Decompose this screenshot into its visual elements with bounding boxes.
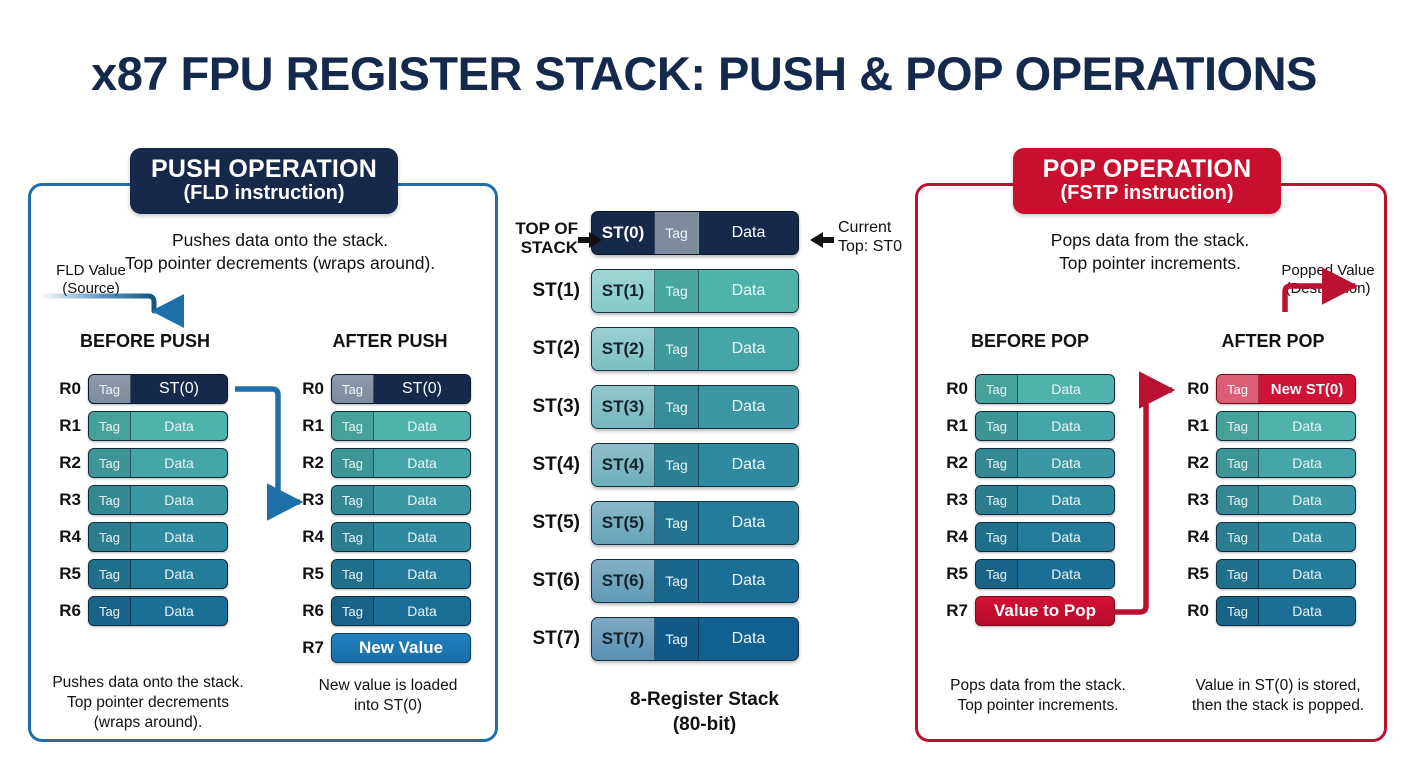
register-data-cell: ST(0): [374, 375, 470, 403]
pop-foot-left-line2: Top pointer increments.: [928, 696, 1148, 716]
register-data-cell: Data: [1259, 412, 1355, 440]
register-cell-box[interactable]: TagData: [331, 448, 471, 478]
register-row[interactable]: R2TagData: [938, 449, 1113, 477]
register-cell-box[interactable]: TagNew ST(0): [1216, 374, 1356, 404]
register-data-cell: Data: [131, 412, 227, 440]
popped-value-label-line1: Popped Value: [1258, 262, 1398, 280]
stack-row[interactable]: ST(4)ST(4)TagData: [497, 444, 912, 486]
register-label: R3: [1179, 490, 1209, 510]
stack-row-box[interactable]: ST(5)TagData: [591, 501, 799, 545]
register-tag-cell: Tag: [89, 597, 131, 625]
register-highlight-cell: New Value: [332, 638, 470, 658]
fld-value-label-line2: (Source): [36, 280, 146, 298]
register-cell-box[interactable]: TagData: [88, 596, 228, 626]
register-row[interactable]: R1TagData: [51, 412, 226, 440]
register-data-cell: Data: [1018, 486, 1114, 514]
stack-row-box[interactable]: ST(0)TagData: [591, 211, 799, 255]
register-label: R1: [294, 416, 324, 436]
register-data-cell: Data: [1259, 597, 1355, 625]
register-row[interactable]: R3TagData: [51, 486, 226, 514]
register-cell-box[interactable]: TagData: [1216, 559, 1356, 589]
stack-register-name-cell: ST(4): [592, 444, 655, 486]
register-label: R1: [51, 416, 81, 436]
register-label: R0: [938, 379, 968, 399]
after-pop-register-column: R0TagNew ST(0)R1TagDataR2TagDataR3TagDat…: [1179, 375, 1354, 634]
register-cell-box[interactable]: TagData: [975, 522, 1115, 552]
stack-row-box[interactable]: ST(6)TagData: [591, 559, 799, 603]
register-row[interactable]: R1TagData: [294, 412, 469, 440]
stack-tag-cell: Tag: [655, 212, 699, 254]
register-cell-box[interactable]: TagData: [331, 559, 471, 589]
register-cell-box[interactable]: TagData: [1216, 485, 1356, 515]
register-data-cell: Data: [131, 597, 227, 625]
pop-foot-right-line1: Value in ST(0) is stored,: [1168, 676, 1388, 696]
register-tag-cell: Tag: [89, 486, 131, 514]
register-tag-cell: Tag: [89, 375, 131, 403]
pop-badge-subtitle: (FSTP instruction): [1013, 183, 1281, 204]
stack-row[interactable]: ST(5)ST(5)TagData: [497, 502, 912, 544]
center-caption-line1: 8-Register Stack: [497, 688, 912, 713]
stack-row[interactable]: ST(6)ST(6)TagData: [497, 560, 912, 602]
stack-register-name-cell: ST(1): [592, 270, 655, 312]
pop-foot-right-line2: then the stack is popped.: [1168, 696, 1388, 716]
before-push-register-column: R0TagST(0)R1TagDataR2TagDataR3TagDataR4T…: [51, 375, 226, 634]
register-tag-cell: Tag: [1217, 523, 1259, 551]
register-label: R5: [294, 564, 324, 584]
register-row[interactable]: R0TagNew ST(0): [1179, 375, 1354, 403]
register-row[interactable]: R5TagData: [51, 560, 226, 588]
before-push-heading: BEFORE PUSH: [60, 331, 230, 352]
register-row[interactable]: R5TagData: [294, 560, 469, 588]
register-tag-cell: Tag: [89, 560, 131, 588]
register-row[interactable]: R7Value to Pop: [938, 597, 1113, 625]
push-foot-right-line2: into ST(0): [288, 696, 488, 716]
register-row[interactable]: R1TagData: [1179, 412, 1354, 440]
stack-row[interactable]: ST(3)ST(3)TagData: [497, 386, 912, 428]
stack-data-cell: Data: [699, 618, 798, 660]
stack-data-cell: Data: [699, 328, 798, 370]
register-cell-box[interactable]: TagData: [1216, 522, 1356, 552]
register-label: R4: [294, 527, 324, 547]
register-tag-cell: Tag: [976, 412, 1018, 440]
register-label: R1: [938, 416, 968, 436]
register-data-cell: Data: [1259, 523, 1355, 551]
page-title: x87 FPU REGISTER STACK: PUSH & POP OPERA…: [0, 46, 1408, 101]
register-row[interactable]: R2TagData: [51, 449, 226, 477]
stack-row[interactable]: ST(7)ST(7)TagData: [497, 618, 912, 660]
register-tag-cell: Tag: [332, 375, 374, 403]
register-cell-box[interactable]: TagData: [331, 411, 471, 441]
register-row[interactable]: R0TagData: [1179, 597, 1354, 625]
pop-foot-left-line1: Pops data from the stack.: [928, 676, 1148, 696]
register-data-cell: Data: [131, 449, 227, 477]
push-panel-badge: PUSH OPERATION (FLD instruction): [130, 148, 398, 214]
register-data-cell: Data: [131, 523, 227, 551]
register-cell-box[interactable]: TagST(0): [88, 374, 228, 404]
register-label: R7: [938, 601, 968, 621]
register-highlight-cell: Value to Pop: [976, 601, 1114, 621]
register-cell-box[interactable]: TagData: [331, 485, 471, 515]
register-data-cell: Data: [1259, 449, 1355, 477]
register-cell-box[interactable]: TagData: [975, 485, 1115, 515]
push-badge-subtitle: (FLD instruction): [130, 183, 398, 204]
register-label: R5: [51, 564, 81, 584]
fld-value-label-line1: FLD Value: [36, 262, 146, 280]
register-row[interactable]: R4TagData: [1179, 523, 1354, 551]
register-cell-box[interactable]: TagData: [88, 411, 228, 441]
stack-row-box[interactable]: ST(3)TagData: [591, 385, 799, 429]
register-label: R2: [1179, 453, 1209, 473]
register-row[interactable]: R4TagData: [51, 523, 226, 551]
register-cell-box[interactable]: TagData: [88, 485, 228, 515]
register-cell-box[interactable]: TagData: [88, 522, 228, 552]
register-tag-cell: Tag: [89, 412, 131, 440]
register-row[interactable]: R3TagData: [1179, 486, 1354, 514]
fld-value-source-label: FLD Value (Source): [36, 262, 146, 298]
stack-tag-cell: Tag: [655, 386, 699, 428]
register-data-cell: Data: [131, 560, 227, 588]
stack-row-box[interactable]: ST(7)TagData: [591, 617, 799, 661]
register-label: R2: [938, 453, 968, 473]
register-row[interactable]: R2TagData: [294, 449, 469, 477]
register-data-cell: Data: [374, 412, 470, 440]
register-label: R2: [294, 453, 324, 473]
after-pop-heading: AFTER POP: [1188, 331, 1358, 352]
pop-foot-right: Value in ST(0) is stored, then the stack…: [1168, 676, 1388, 716]
register-data-cell: Data: [374, 523, 470, 551]
register-row[interactable]: R6TagData: [51, 597, 226, 625]
pop-foot-left: Pops data from the stack. Top pointer in…: [928, 676, 1148, 716]
register-label: R4: [938, 527, 968, 547]
pop-description-line1: Pops data from the stack.: [960, 229, 1340, 252]
register-row[interactable]: R3TagData: [938, 486, 1113, 514]
stack-register-name-cell: ST(2): [592, 328, 655, 370]
stack-register-name-cell: ST(6): [592, 560, 655, 602]
after-push-register-column: R0TagST(0)R1TagDataR2TagDataR3TagDataR4T…: [294, 375, 469, 671]
register-cell-box[interactable]: TagData: [331, 522, 471, 552]
register-tag-cell: Tag: [976, 449, 1018, 477]
register-data-cell: Data: [374, 597, 470, 625]
register-tag-cell: Tag: [332, 412, 374, 440]
register-label: R0: [1179, 601, 1209, 621]
register-data-cell: Data: [1259, 560, 1355, 588]
register-label: R2: [51, 453, 81, 473]
stack-row-label: ST(5): [497, 513, 580, 533]
before-pop-heading: BEFORE POP: [945, 331, 1115, 352]
popped-value-destination-label: Popped Value (Destination): [1258, 262, 1398, 298]
register-cell-box[interactable]: TagData: [1216, 596, 1356, 626]
stack-register-name-cell: ST(7): [592, 618, 655, 660]
register-data-cell: Data: [1018, 560, 1114, 588]
push-foot-left-line2: Top pointer decrements: [38, 693, 258, 713]
register-cell-box[interactable]: TagData: [975, 559, 1115, 589]
register-data-cell: Data: [374, 560, 470, 588]
register-cell-box[interactable]: TagData: [1216, 448, 1356, 478]
stack-row-box[interactable]: ST(4)TagData: [591, 443, 799, 487]
register-label: R5: [1179, 564, 1209, 584]
stack-row-label: ST(1): [497, 281, 580, 301]
register-data-cell: Data: [374, 486, 470, 514]
register-row[interactable]: R6TagData: [294, 597, 469, 625]
before-pop-register-column: R0TagDataR1TagDataR2TagDataR3TagDataR4Ta…: [938, 375, 1113, 634]
stack-register-name-cell: ST(0): [592, 212, 655, 254]
stack-tag-cell: Tag: [655, 328, 699, 370]
register-cell-box[interactable]: TagData: [88, 559, 228, 589]
register-label: R0: [294, 379, 324, 399]
stack-row[interactable]: ST(0)TagData: [497, 212, 912, 254]
register-cell-box[interactable]: New Value: [331, 633, 471, 663]
register-row[interactable]: R0TagData: [938, 375, 1113, 403]
register-row[interactable]: R1TagData: [938, 412, 1113, 440]
register-row[interactable]: R4TagData: [938, 523, 1113, 551]
after-push-heading: AFTER PUSH: [305, 331, 475, 352]
push-badge-title: PUSH OPERATION: [130, 156, 398, 183]
register-data-cell: Data: [1018, 523, 1114, 551]
register-row[interactable]: R4TagData: [294, 523, 469, 551]
stack-row-label: ST(2): [497, 339, 580, 359]
stack-tag-cell: Tag: [655, 618, 699, 660]
stack-row-label: ST(4): [497, 455, 580, 475]
register-row[interactable]: R5TagData: [1179, 560, 1354, 588]
push-foot-right-line1: New value is loaded: [288, 676, 488, 696]
center-caption-line2: (80-bit): [497, 713, 912, 738]
register-cell-box[interactable]: TagST(0): [331, 374, 471, 404]
push-foot-left: Pushes data onto the stack. Top pointer …: [38, 673, 258, 733]
register-label: R0: [51, 379, 81, 399]
register-label: R6: [294, 601, 324, 621]
register-row[interactable]: R0TagST(0): [294, 375, 469, 403]
stack-row-box[interactable]: ST(2)TagData: [591, 327, 799, 371]
register-tag-cell: Tag: [1217, 375, 1259, 403]
register-label: R5: [938, 564, 968, 584]
register-label: R4: [1179, 527, 1209, 547]
register-row[interactable]: R0TagST(0): [51, 375, 226, 403]
push-description-line1: Pushes data onto the stack.: [90, 229, 470, 252]
push-description-line2: Top pointer decrements (wraps around).: [90, 252, 470, 275]
register-cell-box[interactable]: TagData: [975, 411, 1115, 441]
register-label: R7: [294, 638, 324, 658]
register-label: R4: [51, 527, 81, 547]
register-cell-box[interactable]: TagData: [1216, 411, 1356, 441]
register-tag-cell: Tag: [1217, 449, 1259, 477]
register-tag-cell: Tag: [976, 486, 1018, 514]
stack-data-cell: Data: [699, 270, 798, 312]
register-row[interactable]: R7New Value: [294, 634, 469, 662]
diagram-canvas: x87 FPU REGISTER STACK: PUSH & POP OPERA…: [0, 0, 1408, 768]
register-tag-cell: Tag: [89, 449, 131, 477]
push-description: Pushes data onto the stack. Top pointer …: [90, 229, 470, 275]
register-data-cell: Data: [1259, 486, 1355, 514]
register-data-cell: Data: [374, 449, 470, 477]
register-data-cell: ST(0): [131, 375, 227, 403]
push-foot-left-line3: (wraps around).: [38, 713, 258, 733]
push-foot-left-line1: Pushes data onto the stack.: [38, 673, 258, 693]
stack-data-cell: Data: [699, 444, 798, 486]
register-cell-box[interactable]: Value to Pop: [975, 596, 1115, 626]
register-label: R1: [1179, 416, 1209, 436]
stack-row-label: ST(3): [497, 397, 580, 417]
stack-tag-cell: Tag: [655, 502, 699, 544]
pop-panel-badge: POP OPERATION (FSTP instruction): [1013, 148, 1281, 214]
register-tag-cell: Tag: [976, 375, 1018, 403]
center-register-stack: ST(0)TagDataST(1)ST(1)TagDataST(2)ST(2)T…: [497, 212, 912, 676]
register-row[interactable]: R2TagData: [1179, 449, 1354, 477]
register-data-cell: Data: [131, 486, 227, 514]
stack-row-label: ST(7): [497, 629, 580, 649]
register-tag-cell: Tag: [976, 560, 1018, 588]
register-tag-cell: Tag: [1217, 412, 1259, 440]
register-label: R3: [294, 490, 324, 510]
stack-tag-cell: Tag: [655, 270, 699, 312]
register-tag-cell: Tag: [332, 486, 374, 514]
stack-register-name-cell: ST(3): [592, 386, 655, 428]
register-data-cell: Data: [1018, 375, 1114, 403]
register-label: R3: [938, 490, 968, 510]
register-data-cell: Data: [1018, 449, 1114, 477]
stack-tag-cell: Tag: [655, 444, 699, 486]
center-stack-caption: 8-Register Stack (80-bit): [497, 688, 912, 737]
stack-row-box[interactable]: ST(1)TagData: [591, 269, 799, 313]
stack-data-cell: Data: [699, 560, 798, 602]
pop-badge-title: POP OPERATION: [1013, 156, 1281, 183]
register-cell-box[interactable]: TagData: [88, 448, 228, 478]
stack-data-cell: Data: [699, 386, 798, 428]
register-tag-cell: Tag: [1217, 560, 1259, 588]
register-label: R3: [51, 490, 81, 510]
register-data-cell: Data: [1018, 412, 1114, 440]
stack-register-name-cell: ST(5): [592, 502, 655, 544]
register-cell-box[interactable]: TagData: [975, 374, 1115, 404]
register-row[interactable]: R5TagData: [938, 560, 1113, 588]
register-tag-cell: Tag: [332, 523, 374, 551]
popped-value-label-line2: (Destination): [1258, 280, 1398, 298]
stack-tag-cell: Tag: [655, 560, 699, 602]
stack-row[interactable]: ST(1)ST(1)TagData: [497, 270, 912, 312]
register-tag-cell: Tag: [976, 523, 1018, 551]
register-cell-box[interactable]: TagData: [331, 596, 471, 626]
register-label: R6: [51, 601, 81, 621]
register-tag-cell: Tag: [1217, 597, 1259, 625]
stack-row[interactable]: ST(2)ST(2)TagData: [497, 328, 912, 370]
register-tag-cell: Tag: [89, 523, 131, 551]
register-tag-cell: Tag: [332, 449, 374, 477]
register-tag-cell: Tag: [1217, 486, 1259, 514]
register-data-cell: New ST(0): [1259, 375, 1355, 403]
stack-data-cell: Data: [699, 212, 798, 254]
stack-row-label: ST(6): [497, 571, 580, 591]
push-foot-right: New value is loaded into ST(0): [288, 676, 488, 716]
stack-data-cell: Data: [699, 502, 798, 544]
register-tag-cell: Tag: [332, 560, 374, 588]
register-label: R0: [1179, 379, 1209, 399]
register-row[interactable]: R3TagData: [294, 486, 469, 514]
register-tag-cell: Tag: [332, 597, 374, 625]
register-cell-box[interactable]: TagData: [975, 448, 1115, 478]
